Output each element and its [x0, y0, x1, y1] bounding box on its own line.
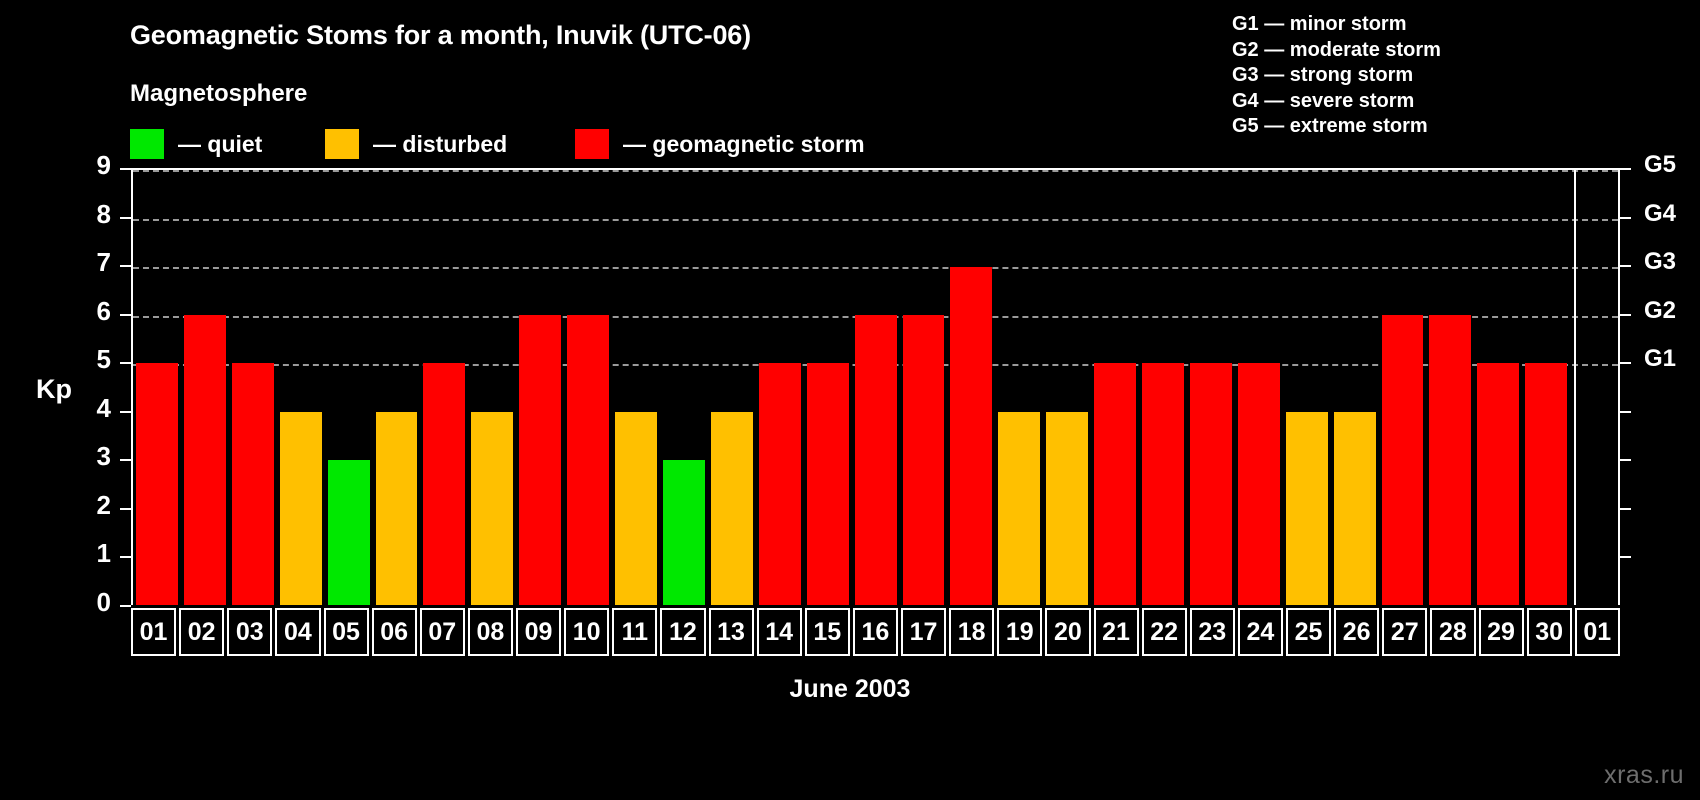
bar-slot-day-16[interactable] [852, 170, 900, 605]
bar-slot-day-04[interactable] [277, 170, 325, 605]
bar-slot-day-28[interactable] [1426, 170, 1474, 605]
day-label-29[interactable]: 29 [1479, 608, 1524, 656]
kp-tick-mark-0 [120, 605, 131, 607]
legend-entry-0: — quiet [130, 128, 262, 160]
page-title: Geomagnetic Stoms for a month, Inuvik (U… [130, 20, 751, 51]
g-tick-label-G4: G4 [1644, 200, 1676, 228]
day-label-02[interactable]: 02 [179, 608, 224, 656]
day-axis: 0102030405060708091011121314151617181920… [131, 608, 1620, 656]
day-label-15[interactable]: 15 [805, 608, 850, 656]
bar-slot-day-19[interactable] [995, 170, 1043, 605]
gscale-row-4: G4 — severe storm [1232, 89, 1441, 115]
bar-day-24[interactable] [1238, 363, 1280, 605]
day-label-16[interactable]: 16 [853, 608, 898, 656]
day-label-05[interactable]: 05 [324, 608, 369, 656]
legend-label-0: — quiet [178, 131, 262, 158]
bar-slot-day-18[interactable] [947, 170, 995, 605]
day-label-22[interactable]: 22 [1142, 608, 1187, 656]
quiet-swatch [130, 129, 164, 159]
plot-area [131, 168, 1620, 605]
bar-day-21[interactable] [1094, 363, 1136, 605]
day-label-12[interactable]: 12 [660, 608, 705, 656]
day-label-17[interactable]: 17 [901, 608, 946, 656]
kp-tick-mark-5 [120, 362, 131, 364]
kp-tick-mark-2 [120, 508, 131, 510]
g-minor-tick-2 [1620, 508, 1631, 510]
day-label-07[interactable]: 07 [420, 608, 465, 656]
bar-slot-day-14[interactable] [756, 170, 804, 605]
day-label-13[interactable]: 13 [709, 608, 754, 656]
kp-tick-mark-4 [120, 411, 131, 413]
kp-tick-label-1: 1 [69, 538, 111, 569]
day-label-19[interactable]: 19 [997, 608, 1042, 656]
bar-slot-day-10[interactable] [564, 170, 612, 605]
bar-day-01[interactable] [136, 363, 178, 605]
bar-day-06[interactable] [376, 412, 418, 605]
day-label-11[interactable]: 11 [612, 608, 657, 656]
g-tick-mark-G3 [1620, 265, 1631, 267]
bar-slot-day-02[interactable] [181, 170, 229, 605]
bar-day-20[interactable] [1046, 412, 1088, 605]
bar-day-05[interactable] [328, 460, 370, 605]
disturbed-swatch [325, 129, 359, 159]
g-tick-mark-G2 [1620, 314, 1631, 316]
day-label-03[interactable]: 03 [227, 608, 272, 656]
bar-slot-day-17[interactable] [900, 170, 948, 605]
bars-layer [133, 170, 1618, 605]
gscale-row-2: G2 — moderate storm [1232, 38, 1441, 64]
bar-day-13[interactable] [711, 412, 753, 605]
bar-slot-day-12[interactable] [660, 170, 708, 605]
legend-label-1: — disturbed [373, 131, 507, 158]
bar-day-18[interactable] [950, 267, 992, 605]
kp-tick-label-4: 4 [69, 393, 111, 424]
day-label-20[interactable]: 20 [1045, 608, 1090, 656]
kp-tick-mark-3 [120, 459, 131, 461]
bar-slot-day-24[interactable] [1235, 170, 1283, 605]
bar-slot-day-20[interactable] [1043, 170, 1091, 605]
day-label-18[interactable]: 18 [949, 608, 994, 656]
bar-slot-day-22[interactable] [1139, 170, 1187, 605]
bar-slot-day-09[interactable] [516, 170, 564, 605]
bar-slot-day-27[interactable] [1379, 170, 1427, 605]
bar-day-07[interactable] [423, 363, 465, 605]
bar-slot-day-11[interactable] [612, 170, 660, 605]
g-tick-mark-G5 [1620, 168, 1631, 170]
bar-day-27[interactable] [1382, 315, 1424, 605]
day-label-26[interactable]: 26 [1334, 608, 1379, 656]
kp-tick-label-8: 8 [69, 199, 111, 230]
day-label-09[interactable]: 09 [516, 608, 561, 656]
bar-slot-day-26[interactable] [1331, 170, 1379, 605]
kp-tick-label-9: 9 [69, 150, 111, 181]
watermark: xras.ru [1604, 761, 1684, 790]
kp-tick-mark-9 [120, 168, 131, 170]
bar-slot-day-25[interactable] [1283, 170, 1331, 605]
g-minor-tick-4 [1620, 411, 1631, 413]
bar-slot-day-08[interactable] [468, 170, 516, 605]
day-label-01[interactable]: 01 [1575, 608, 1620, 656]
legend-entry-1: — disturbed [325, 128, 507, 160]
bar-slot-day-05[interactable] [325, 170, 373, 605]
bar-day-30[interactable] [1525, 363, 1567, 605]
g-tick-label-G2: G2 [1644, 297, 1676, 325]
gscale-row-5: G5 — extreme storm [1232, 114, 1441, 140]
g-tick-label-G3: G3 [1644, 248, 1676, 276]
bar-day-10[interactable] [567, 315, 609, 605]
month-boundary-line [1574, 170, 1576, 605]
day-label-08[interactable]: 08 [468, 608, 513, 656]
bar-day-17[interactable] [903, 315, 945, 605]
kp-tick-mark-1 [120, 556, 131, 558]
day-label-23[interactable]: 23 [1190, 608, 1235, 656]
day-label-27[interactable]: 27 [1382, 608, 1427, 656]
bar-slot-day-03[interactable] [229, 170, 277, 605]
kp-tick-label-6: 6 [69, 296, 111, 327]
day-label-25[interactable]: 25 [1286, 608, 1331, 656]
storm-swatch [575, 129, 609, 159]
g-minor-tick-1 [1620, 556, 1631, 558]
day-label-21[interactable]: 21 [1094, 608, 1139, 656]
bar-slot-day-29[interactable] [1474, 170, 1522, 605]
bar-day-16[interactable] [855, 315, 897, 605]
bar-slot-day-13[interactable] [708, 170, 756, 605]
bar-day-12[interactable] [663, 460, 705, 605]
bar-day-03[interactable] [232, 363, 274, 605]
g-tick-mark-G4 [1620, 217, 1631, 219]
bar-day-11[interactable] [615, 412, 657, 605]
bar-day-28[interactable] [1429, 315, 1471, 605]
day-label-01[interactable]: 01 [131, 608, 176, 656]
bar-slot-day-23[interactable] [1187, 170, 1235, 605]
day-label-14[interactable]: 14 [757, 608, 802, 656]
bar-slot-day-01[interactable] [1570, 170, 1618, 605]
gscale-row-3: G3 — strong storm [1232, 63, 1441, 89]
kp-tick-mark-8 [120, 217, 131, 219]
day-label-30[interactable]: 30 [1527, 608, 1572, 656]
g-minor-tick-3 [1620, 459, 1631, 461]
bar-slot-day-01[interactable] [133, 170, 181, 605]
legend-entry-2: — geomagnetic storm [575, 128, 865, 160]
g-tick-mark-G1 [1620, 362, 1631, 364]
day-label-06[interactable]: 06 [372, 608, 417, 656]
kp-tick-label-7: 7 [69, 247, 111, 278]
bar-day-22[interactable] [1142, 363, 1184, 605]
bar-day-25[interactable] [1286, 412, 1328, 605]
g-tick-label-G1: G1 [1644, 345, 1676, 373]
kp-tick-label-5: 5 [69, 344, 111, 375]
bar-day-26[interactable] [1334, 412, 1376, 605]
day-label-04[interactable]: 04 [275, 608, 320, 656]
day-label-24[interactable]: 24 [1238, 608, 1283, 656]
bar-day-19[interactable] [998, 412, 1040, 605]
kp-tick-mark-6 [120, 314, 131, 316]
bar-slot-day-07[interactable] [420, 170, 468, 605]
magnetosphere-heading: Magnetosphere [130, 80, 307, 108]
kp-tick-label-0: 0 [69, 587, 111, 618]
bar-day-29[interactable] [1477, 363, 1519, 605]
legend-label-2: — geomagnetic storm [623, 131, 865, 158]
kp-tick-label-3: 3 [69, 441, 111, 472]
day-label-28[interactable]: 28 [1430, 608, 1475, 656]
bar-day-15[interactable] [807, 363, 849, 605]
gscale-legend: G1 — minor stormG2 — moderate stormG3 — … [1232, 12, 1441, 140]
bar-day-14[interactable] [759, 363, 801, 605]
bar-slot-day-15[interactable] [804, 170, 852, 605]
bar-slot-day-30[interactable] [1522, 170, 1570, 605]
bar-day-09[interactable] [519, 315, 561, 605]
bar-slot-day-06[interactable] [373, 170, 421, 605]
day-label-10[interactable]: 10 [564, 608, 609, 656]
g-tick-label-G5: G5 [1644, 151, 1676, 179]
bar-day-04[interactable] [280, 412, 322, 605]
x-axis-title: June 2003 [0, 675, 1700, 704]
gscale-row-1: G1 — minor storm [1232, 12, 1441, 38]
plot-inner [133, 170, 1618, 605]
kp-axis-title: Kp [36, 374, 72, 405]
bar-day-02[interactable] [184, 315, 226, 605]
kp-tick-label-2: 2 [69, 490, 111, 521]
bar-day-23[interactable] [1190, 363, 1232, 605]
kp-tick-mark-7 [120, 265, 131, 267]
bar-day-08[interactable] [471, 412, 513, 605]
bar-slot-day-21[interactable] [1091, 170, 1139, 605]
